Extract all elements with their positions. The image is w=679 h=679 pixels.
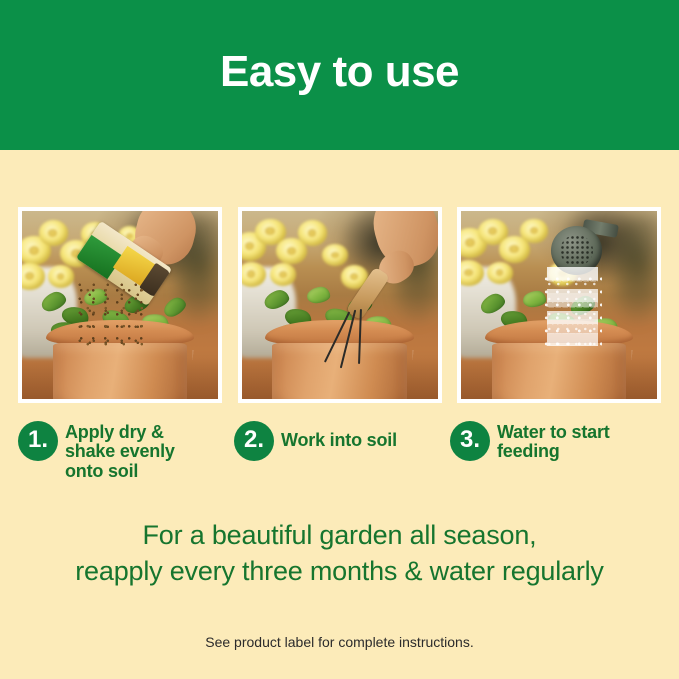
- step-3: 3. Water to start feeding: [450, 421, 666, 513]
- step-2-label: Work into soil: [281, 421, 397, 450]
- step-photo-1: [18, 207, 222, 403]
- granules: [77, 282, 144, 346]
- step-3-line-2: feeding: [497, 441, 560, 461]
- pot-body: [272, 343, 406, 399]
- infographic-page: Easy to use: [0, 0, 679, 679]
- step-2-number-badge: 2.: [234, 421, 274, 461]
- step-2: 2. Work into soil: [234, 421, 450, 513]
- step-1-number-badge: 1.: [18, 421, 58, 461]
- pot-body: [53, 343, 187, 399]
- step-1-label: Apply dry & shake evenly onto soil: [65, 421, 175, 481]
- step-1-line-1: Apply dry &: [65, 422, 164, 442]
- page-title: Easy to use: [220, 50, 459, 100]
- step-3-label: Water to start feeding: [497, 421, 610, 462]
- step-1-line-2: shake evenly: [65, 441, 175, 461]
- cultivator-tool-photo: [242, 211, 438, 399]
- steps-row: 1. Apply dry & shake evenly onto soil 2.…: [18, 421, 666, 513]
- step-2-line-1: Work into soil: [281, 430, 397, 450]
- step-3-line-1: Water to start: [497, 422, 610, 442]
- header-band: Easy to use: [0, 0, 679, 150]
- tagline-line-2: reapply every three months & water regul…: [0, 554, 679, 590]
- step-1-line-3: onto soil: [65, 461, 138, 481]
- tagline-line-1: For a beautiful garden all season,: [143, 520, 537, 550]
- watering-can-photo: [461, 211, 657, 399]
- step-photo-2: [238, 207, 442, 403]
- footnote: See product label for complete instructi…: [0, 634, 679, 650]
- tagline: For a beautiful garden all season, reapp…: [0, 518, 679, 590]
- fertilizer-bottle-photo: [22, 211, 218, 399]
- step-3-number-badge: 3.: [450, 421, 490, 461]
- water-droplets: [543, 275, 602, 350]
- pot-body: [492, 343, 626, 399]
- step-1: 1. Apply dry & shake evenly onto soil: [18, 421, 234, 513]
- step-photo-3: [457, 207, 661, 403]
- photo-strip: [18, 207, 661, 403]
